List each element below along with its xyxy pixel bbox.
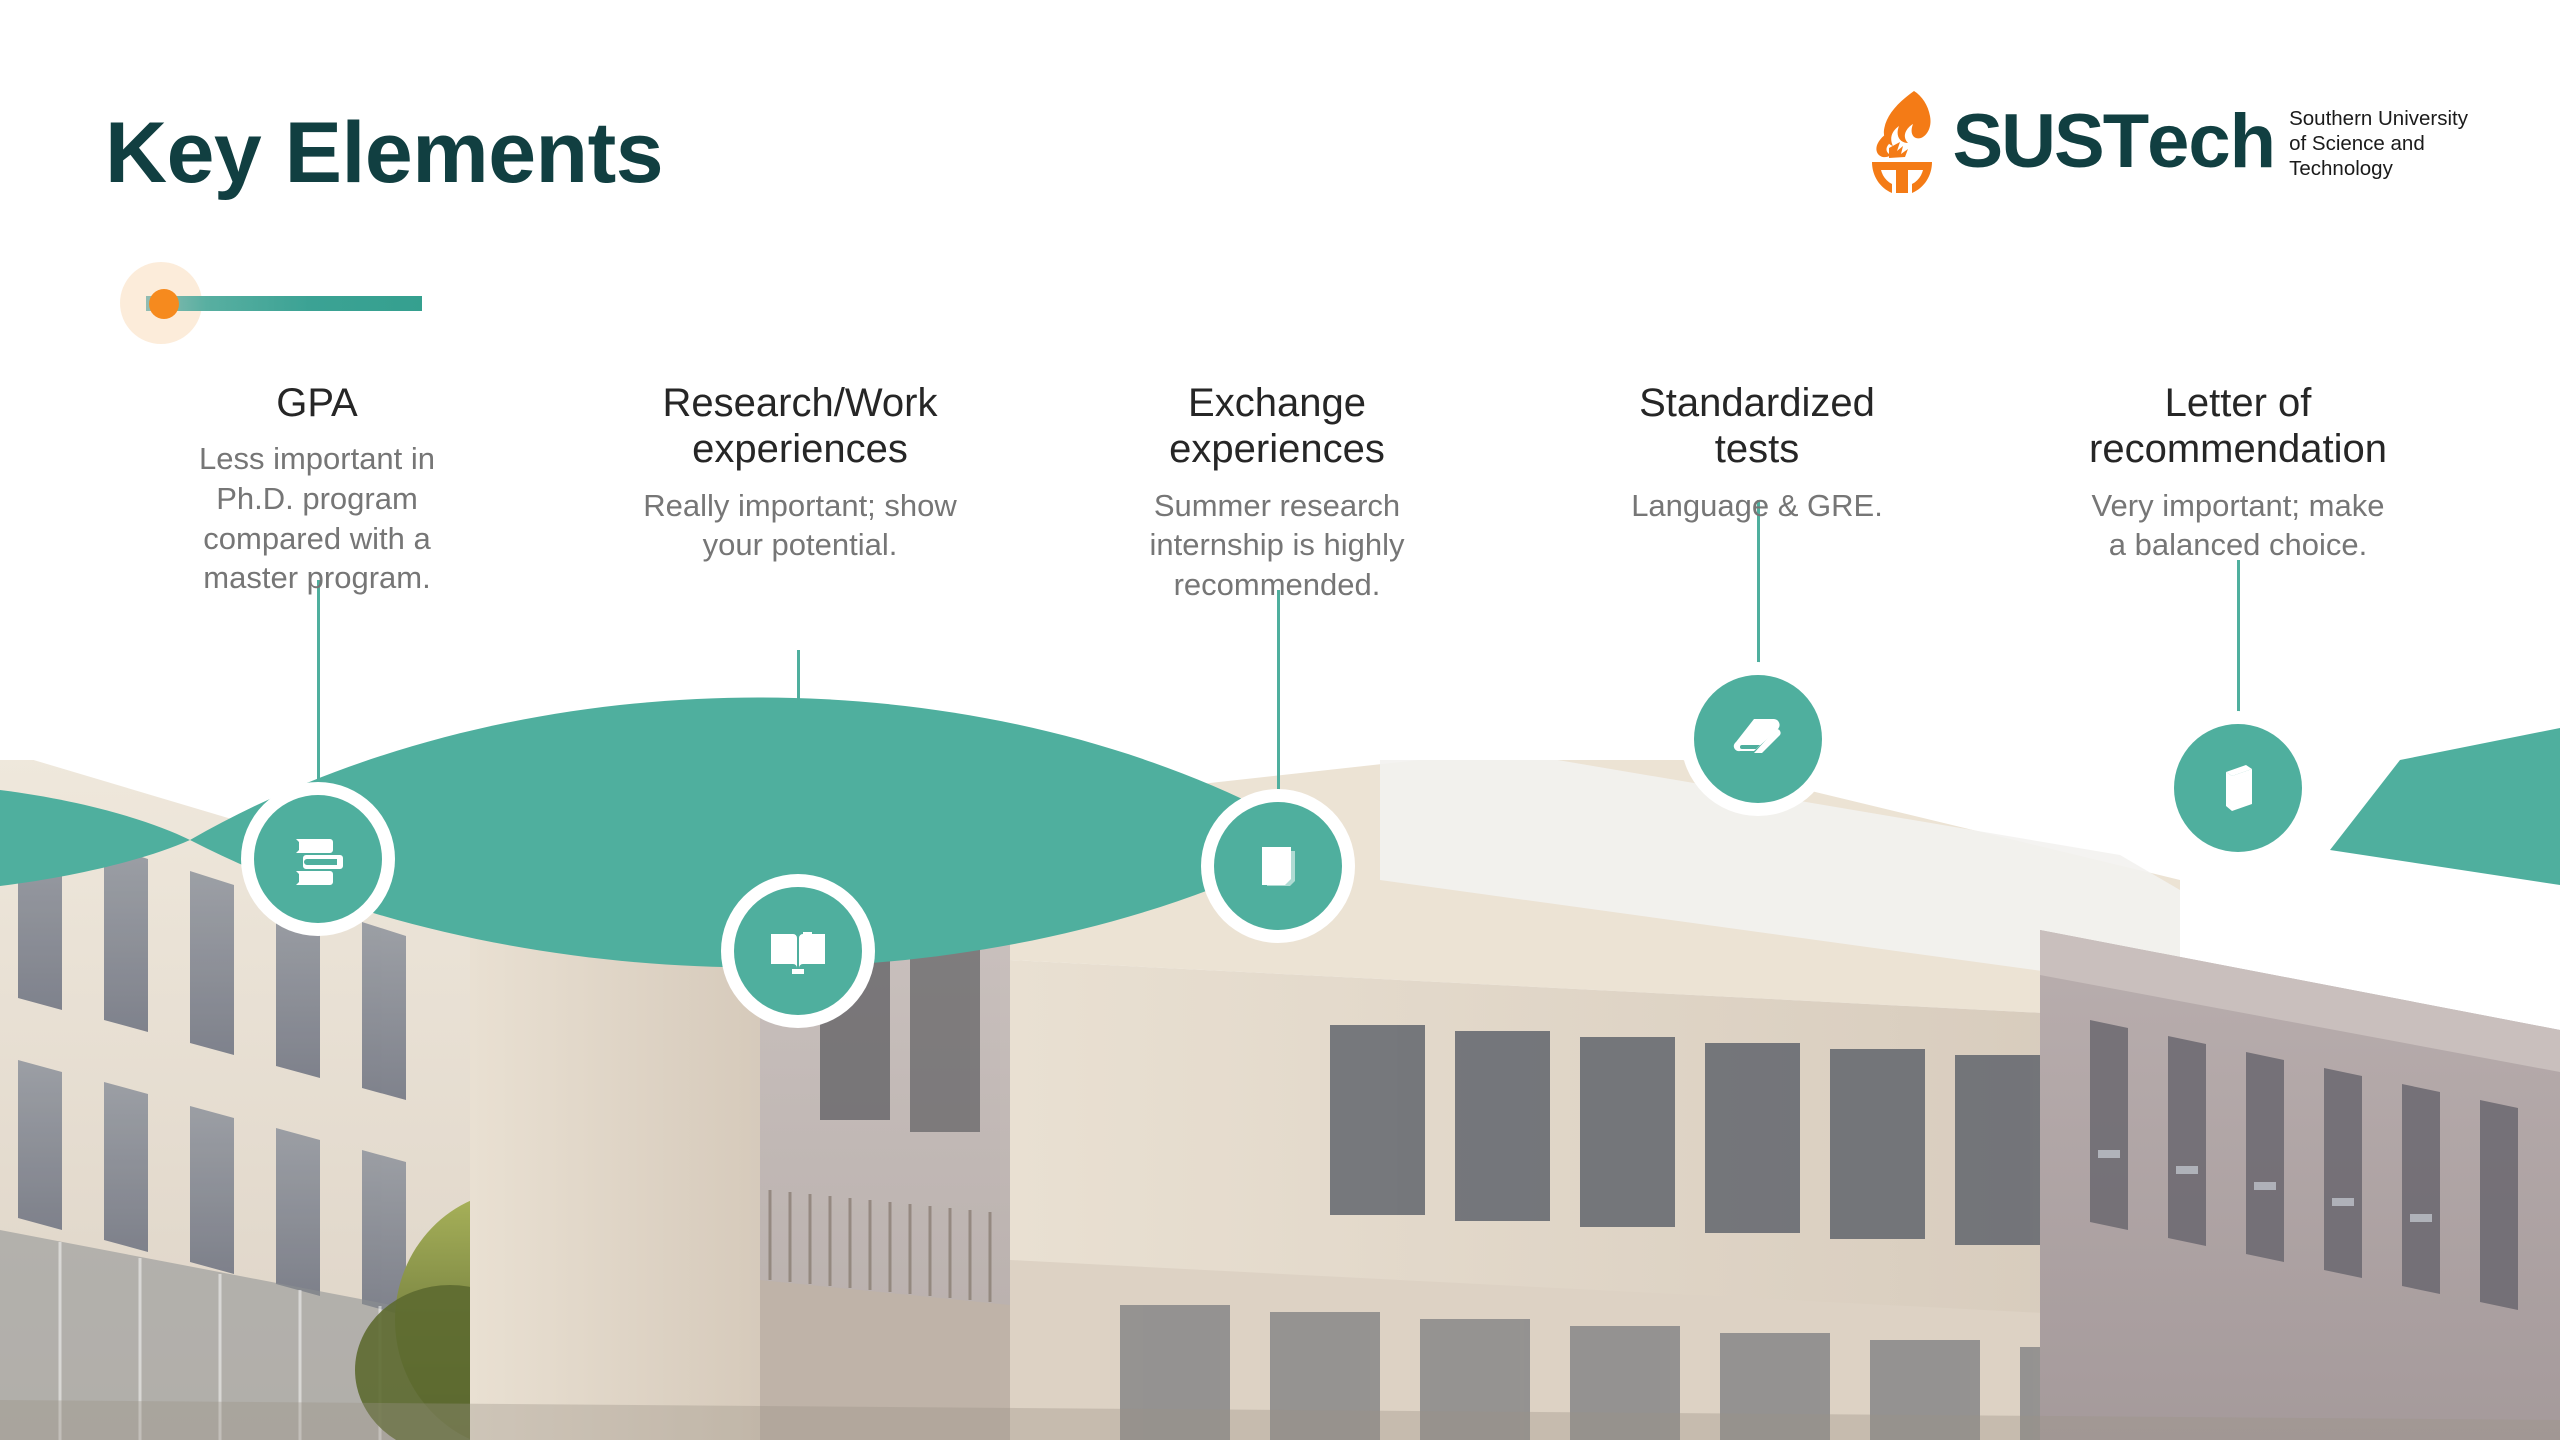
key-elements-list: GPA Less important in Ph.D. program comp… [0,0,2560,1440]
column-heading: Exchange experiences [1124,380,1430,473]
column-body: Really important; show your potential. [632,486,968,565]
column-research-work: Research/Work experiences Really importa… [632,380,968,565]
column-body: Less important in Ph.D. program compared… [167,439,467,598]
column-recommendation-letter: Letter of recommendation Very important;… [2085,380,2391,565]
column-heading: GPA [167,380,467,426]
tilted-book-icon[interactable] [1694,675,1822,803]
column-exchange: Exchange experiences Summer research int… [1124,380,1430,605]
standing-book-icon[interactable] [2174,724,2302,852]
open-book-icon[interactable] [734,887,862,1015]
documents-stack-icon[interactable] [1214,802,1342,930]
column-body: Summer research internship is highly rec… [1124,486,1430,605]
stacked-books-icon[interactable] [254,795,382,923]
column-heading: Standardized tests [1607,380,1907,473]
column-heading: Letter of recommendation [2085,380,2391,473]
column-heading: Research/Work experiences [632,380,968,473]
slide-root: Key Elements SUSTech Southern University… [0,0,2560,1440]
column-body: Very important; make a balanced choice. [2085,486,2391,565]
column-standardized-tests: Standardized tests Language & GRE. [1607,380,1907,525]
column-body: Language & GRE. [1607,486,1907,526]
column-gpa: GPA Less important in Ph.D. program comp… [167,380,467,598]
